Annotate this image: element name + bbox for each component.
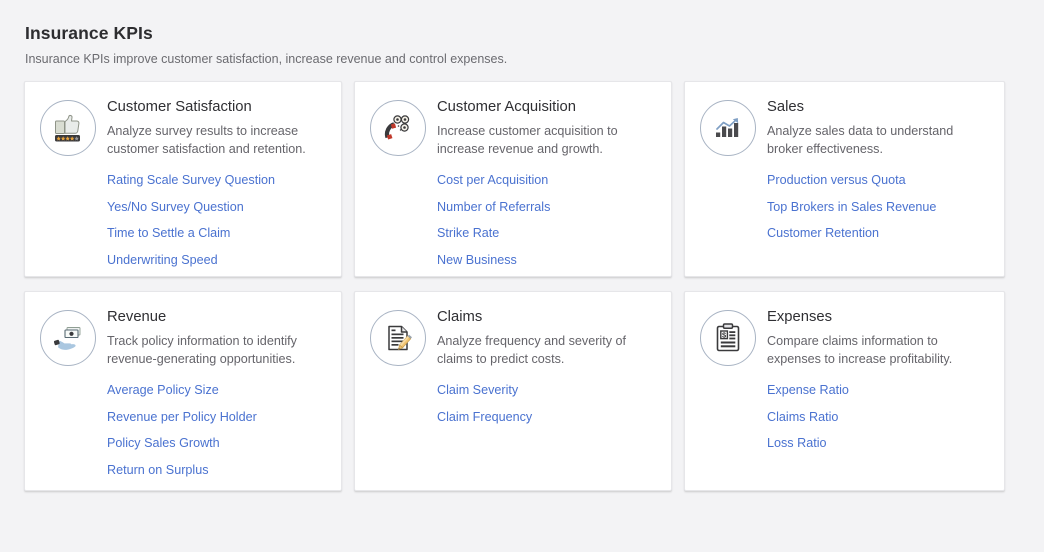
kpi-link[interactable]: Revenue per Policy Holder xyxy=(107,409,257,425)
card-link-list: Rating Scale Survey Question Yes/No Surv… xyxy=(107,171,327,269)
card-body: Expenses Compare claims information to e… xyxy=(767,306,990,461)
card-link-list: Production versus Quota Top Brokers in S… xyxy=(767,171,990,242)
card-title: Sales xyxy=(767,97,990,117)
card-icon-wrapper xyxy=(39,309,97,367)
bar-chart-uptrend-icon xyxy=(700,100,756,156)
kpi-card-claims[interactable]: Claims Analyze frequency and severity of… xyxy=(354,291,672,491)
card-body: Customer Acquisition Increase customer a… xyxy=(437,96,657,277)
kpi-link[interactable]: Customer Retention xyxy=(767,225,879,241)
card-icon-wrapper xyxy=(369,309,427,367)
kpi-card-grid: Customer Satisfaction Analyze survey res… xyxy=(24,81,1005,491)
list-item: Average Policy Size xyxy=(107,381,327,399)
kpi-card-revenue[interactable]: Revenue Track policy information to iden… xyxy=(24,291,342,491)
card-body: Revenue Track policy information to iden… xyxy=(107,306,327,487)
list-item: Policy Sales Growth xyxy=(107,434,327,452)
card-link-list: Expense Ratio Claims Ratio Loss Ratio xyxy=(767,381,990,452)
kpi-link[interactable]: Expense Ratio xyxy=(767,382,849,398)
kpi-link[interactable]: Claims Ratio xyxy=(767,409,838,425)
card-icon-wrapper xyxy=(39,99,97,157)
kpi-link[interactable]: Time to Settle a Claim xyxy=(107,225,230,241)
kpi-card-customer-acquisition[interactable]: Customer Acquisition Increase customer a… xyxy=(354,81,672,277)
kpi-link[interactable]: Strike Rate xyxy=(437,225,499,241)
card-link-list: Cost per Acquisition Number of Referrals… xyxy=(437,171,657,269)
kpi-link[interactable]: Average Policy Size xyxy=(107,382,219,398)
card-title: Claims xyxy=(437,307,657,327)
kpi-card-expenses[interactable]: $ Expenses Compare claims information to… xyxy=(684,291,1005,491)
card-body: Claims Analyze frequency and severity of… xyxy=(437,306,657,434)
kpi-link[interactable]: Return on Surplus xyxy=(107,462,209,478)
hand-holding-money-icon xyxy=(40,310,96,366)
card-title: Expenses xyxy=(767,307,990,327)
list-item: Loss Ratio xyxy=(767,434,990,452)
kpi-link[interactable]: New Business xyxy=(437,252,517,268)
page-title: Insurance KPIs xyxy=(25,22,1044,44)
list-item: Production versus Quota xyxy=(767,171,990,189)
list-item: New Business xyxy=(437,251,657,269)
list-item: Time to Settle a Claim xyxy=(107,224,327,242)
list-item: Claim Frequency xyxy=(437,408,657,426)
card-description: Compare claims information to expenses t… xyxy=(767,333,990,368)
thumbs-up-rating-icon xyxy=(40,100,96,156)
kpi-card-customer-satisfaction[interactable]: Customer Satisfaction Analyze survey res… xyxy=(24,81,342,277)
list-item: Expense Ratio xyxy=(767,381,990,399)
kpi-link[interactable]: Claim Frequency xyxy=(437,409,532,425)
card-icon-wrapper xyxy=(369,99,427,157)
list-item: Claims Ratio xyxy=(767,408,990,426)
kpi-link[interactable]: Loss Ratio xyxy=(767,435,827,451)
kpi-link[interactable]: Claim Severity xyxy=(437,382,518,398)
card-body: Sales Analyze sales data to understand b… xyxy=(767,96,990,251)
clipboard-dollar-icon: $ xyxy=(700,310,756,366)
list-item: Cost per Acquisition xyxy=(437,171,657,189)
list-item: Number of Referrals xyxy=(437,198,657,216)
card-link-list: Claim Severity Claim Frequency xyxy=(437,381,657,426)
card-description: Analyze frequency and severity of claims… xyxy=(437,333,657,368)
kpi-link[interactable]: Production versus Quota xyxy=(767,172,906,188)
kpi-link[interactable]: Number of Referrals xyxy=(437,199,550,215)
list-item: Strike Rate xyxy=(437,224,657,242)
list-item: Underwriting Speed xyxy=(107,251,327,269)
kpi-link[interactable]: Rating Scale Survey Question xyxy=(107,172,275,188)
list-item: Top Brokers in Sales Revenue xyxy=(767,198,990,216)
card-title: Customer Acquisition xyxy=(437,97,657,117)
card-link-list: Average Policy Size Revenue per Policy H… xyxy=(107,381,327,479)
card-title: Revenue xyxy=(107,307,327,327)
document-pencil-icon xyxy=(370,310,426,366)
magnet-attracting-customers-icon xyxy=(370,100,426,156)
list-item: Yes/No Survey Question xyxy=(107,198,327,216)
card-description: Analyze survey results to increase custo… xyxy=(107,123,327,158)
kpi-link[interactable]: Cost per Acquisition xyxy=(437,172,548,188)
kpi-card-sales[interactable]: Sales Analyze sales data to understand b… xyxy=(684,81,1005,277)
list-item: Revenue per Policy Holder xyxy=(107,408,327,426)
kpi-link[interactable]: Policy Sales Growth xyxy=(107,435,220,451)
kpi-link[interactable]: Yes/No Survey Question xyxy=(107,199,244,215)
list-item: Claim Severity xyxy=(437,381,657,399)
card-description: Track policy information to identify rev… xyxy=(107,333,327,368)
svg-text:$: $ xyxy=(722,330,726,339)
card-icon-wrapper: $ xyxy=(699,309,757,367)
kpi-link[interactable]: Top Brokers in Sales Revenue xyxy=(767,199,936,215)
list-item: Customer Retention xyxy=(767,224,990,242)
kpi-link[interactable]: Underwriting Speed xyxy=(107,252,218,268)
card-body: Customer Satisfaction Analyze survey res… xyxy=(107,96,327,277)
page-header: Insurance KPIs Insurance KPIs improve cu… xyxy=(0,0,1044,68)
card-icon-wrapper xyxy=(699,99,757,157)
card-description: Increase customer acquisition to increas… xyxy=(437,123,657,158)
list-item: Rating Scale Survey Question xyxy=(107,171,327,189)
card-title: Customer Satisfaction xyxy=(107,97,327,117)
page-subtitle: Insurance KPIs improve customer satisfac… xyxy=(25,50,1044,68)
card-description: Analyze sales data to understand broker … xyxy=(767,123,990,158)
list-item: Return on Surplus xyxy=(107,461,327,479)
